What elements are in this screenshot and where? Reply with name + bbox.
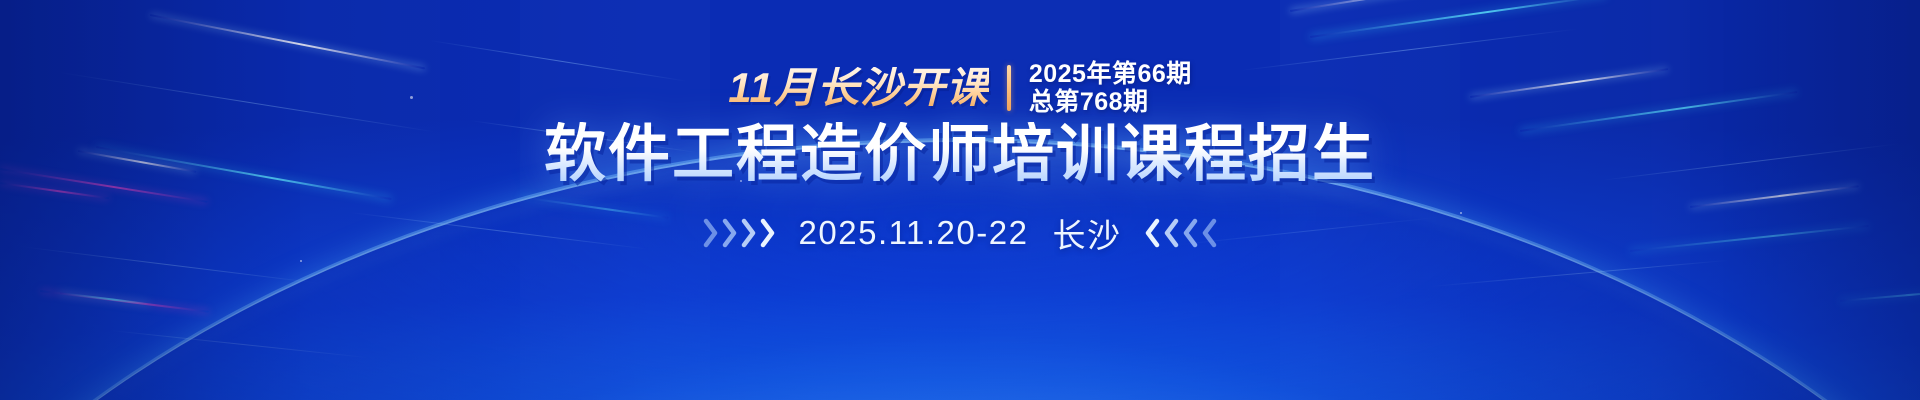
chevron-left-icon [1181, 218, 1198, 248]
chevron-left-icon [1162, 218, 1179, 248]
kicker-row: 11月长沙开课 2025年第66期 总第768期 [728, 62, 1192, 114]
chevron-right-icon [703, 218, 720, 248]
kicker-text: 11月长沙开课 [728, 67, 989, 109]
chevron-left-group [1143, 218, 1217, 248]
chevron-right-group [703, 218, 777, 248]
issue-line-1: 2025年第66期 [1029, 60, 1192, 88]
chevron-left-icon [1143, 218, 1160, 248]
chevron-right-icon [722, 218, 739, 248]
chevron-left-icon [1200, 218, 1217, 248]
chevron-right-icon [760, 218, 777, 248]
course-city: 长沙 [1052, 209, 1121, 257]
issue-line-2: 总第768期 [1029, 88, 1192, 116]
main-headline: 软件工程造价师培训课程招生 [544, 122, 1376, 189]
banner-content: 11月长沙开课 2025年第66期 总第768期 软件工程造价师培训课程招生 [0, 0, 1920, 400]
issue-badge: 2025年第66期 总第768期 [1029, 60, 1192, 116]
promo-banner: 11月长沙开课 2025年第66期 总第768期 软件工程造价师培训课程招生 [0, 0, 1920, 400]
course-date: 2025.11.20-22 [799, 214, 1029, 252]
date-location-line: 2025.11.20-22 长沙 [703, 209, 1218, 257]
chevron-right-icon [741, 218, 758, 248]
date-text-group: 2025.11.20-22 长沙 [799, 209, 1122, 257]
vertical-divider [1007, 65, 1011, 111]
